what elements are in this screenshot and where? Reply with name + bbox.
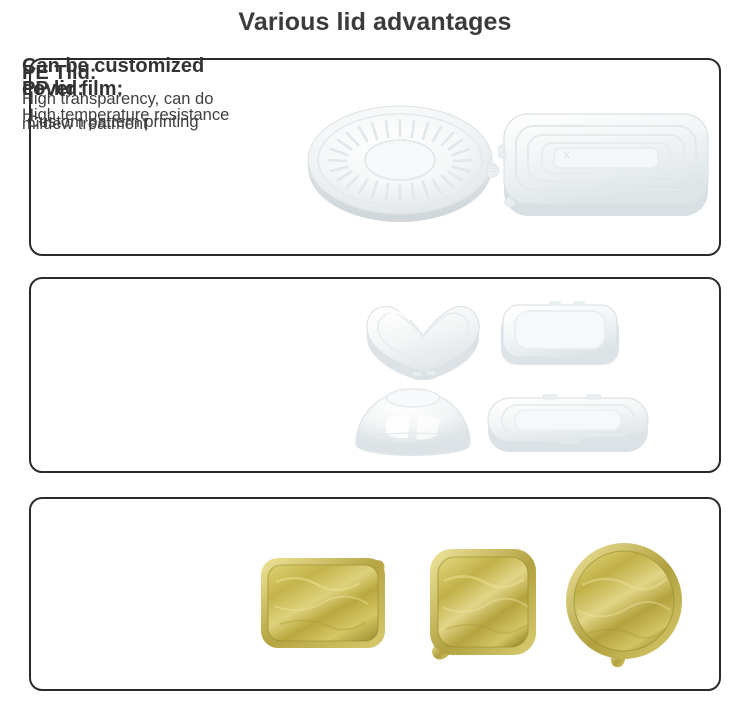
cover-film-heading-line-1: Can be customized (22, 55, 204, 78)
panel-cover-film (29, 497, 721, 691)
cover-film-text-block: Can be customized cover film: Custom pat… (22, 55, 204, 135)
panel-pet-lid (29, 277, 721, 473)
cover-film-heading-line-2: cover film: (22, 78, 204, 101)
cover-film-description: Custom pattern printing (27, 110, 204, 135)
page-title: Various lid advantages (0, 8, 750, 37)
